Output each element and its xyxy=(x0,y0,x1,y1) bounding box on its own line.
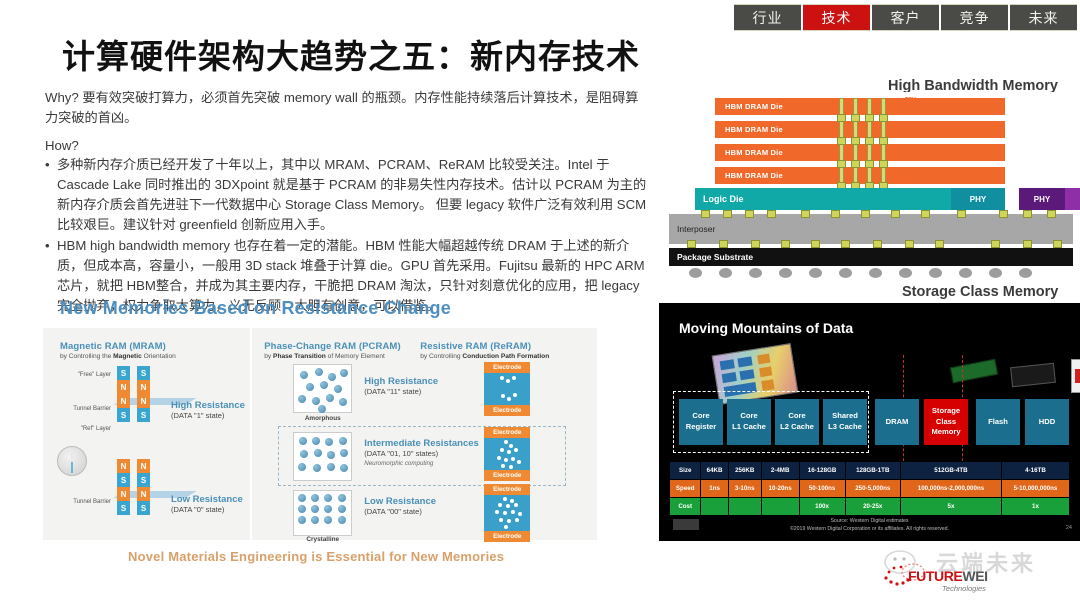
futurewei-tagline: Technologies xyxy=(942,584,986,593)
memory-comparison-table: Size 64KB 256KB 2-4MB 16-128GB 128GB-1TB… xyxy=(669,461,1070,516)
pole-s: S xyxy=(117,473,130,487)
pole-s: S xyxy=(117,501,130,515)
reram-cell-low: Electrode Electrode xyxy=(484,484,530,542)
pole-n: N xyxy=(137,487,150,501)
pcram-subtitle: by Phase Transition of Memory Element xyxy=(264,353,400,360)
tier-core-register: CoreRegister xyxy=(679,399,723,445)
tier-storage-class-memory: Storage Class Memory xyxy=(924,399,968,445)
mram-high-res-magnets: S N N S S N N S xyxy=(117,366,150,422)
pole-s: S xyxy=(137,473,150,487)
bullet-marker-icon: • xyxy=(45,155,57,235)
nav-tab-competition[interactable]: 竞争 xyxy=(941,4,1008,31)
section-heading: New Memories Based on Resistance Change xyxy=(60,298,451,319)
row-header: Size xyxy=(670,462,701,480)
magnet-bar: N S N S xyxy=(137,459,150,515)
copyright-text: ©2019 Western Digital Corporation or its… xyxy=(659,526,1080,534)
bullet-text: 多种新内存介质已经开发了十年以上，其中以 MRAM、PCRAM、ReRAM 比较… xyxy=(57,155,653,235)
pcram-low-resistance-label: Low Resistance (DATA "00" state) xyxy=(364,496,436,516)
list-item: • 多种新内存介质已经开发了十年以上，其中以 MRAM、PCRAM、ReRAM … xyxy=(45,155,653,235)
row-header: Cost xyxy=(670,498,701,516)
mram-high-resistance-label: High Resistance (DATA "1" state) xyxy=(171,400,245,420)
pole-s: S xyxy=(137,408,150,422)
amorphous-label: Amorphous xyxy=(293,415,352,422)
pole-n: N xyxy=(137,394,150,408)
tsv-label: TSV xyxy=(905,97,916,104)
memory-technology-figure: Magnetic RAM (MRAM) by Controlling the M… xyxy=(43,328,597,540)
electrode-label: Electrode xyxy=(484,484,530,495)
slide-title: 计算硬件架构大趋势之五：新内存技术 xyxy=(62,30,662,78)
top-navigation[interactable]: 行业 技术 客户 竞争 未来 xyxy=(734,4,1077,31)
tier-l3-cache: SharedL3 Cache xyxy=(823,399,867,445)
electrode-label: Electrode xyxy=(484,405,530,416)
mram-low-resistance-label: Low Resistance (DATA "0" state) xyxy=(171,494,243,514)
phy-left: PHY xyxy=(951,188,1005,210)
mram-panel: Magnetic RAM (MRAM) by Controlling the M… xyxy=(43,328,250,540)
bullet-list: • 多种新内存介质已经开发了十年以上，其中以 MRAM、PCRAM、ReRAM … xyxy=(45,155,653,318)
tier-l1-cache: CoreL1 Cache xyxy=(727,399,771,445)
scm-device-image xyxy=(1010,363,1056,387)
mram-subtitle: by Controlling the Magnetic Orientation xyxy=(60,353,176,360)
logic-die: Logic Die xyxy=(695,188,855,210)
page-number: 24 xyxy=(1066,525,1072,531)
compass-icon xyxy=(57,446,87,476)
nav-tab-industry[interactable]: 行业 xyxy=(734,4,801,31)
pole-n: N xyxy=(137,459,150,473)
pcram-title: Phase-Change RAM (PCRAM) xyxy=(264,341,400,352)
mram-low-res-magnets: N S N S N S N S xyxy=(117,459,150,515)
mram-tunnel-barrier-label: Tunnel Barrier xyxy=(55,406,111,412)
crystalline-label: Crystalline xyxy=(293,536,352,543)
bottom-caption: Novel Materials Engineering is Essential… xyxy=(128,549,504,564)
pole-n: N xyxy=(117,487,130,501)
scm-heading: Storage Class Memory xyxy=(902,284,1058,300)
crystalline-dot-box xyxy=(293,490,352,536)
hbm-dram-die-2: HBM DRAM Die xyxy=(715,121,1005,138)
phy-right: PHY xyxy=(1019,188,1065,210)
package-substrate: Package Substrate xyxy=(669,248,1073,266)
pcram-high-resistance-label: High Resistance (DATA "11" state) xyxy=(364,376,438,396)
microbump-label: Microbump xyxy=(905,104,935,111)
magnet-bar: S N N S xyxy=(137,366,150,422)
electrode-label: Electrode xyxy=(484,470,530,481)
mram-free-layer-label: "Free" Layer xyxy=(61,372,111,378)
nav-tab-technology[interactable]: 技术 xyxy=(803,4,870,31)
reram-cell-intermediate: Electrode Electrode xyxy=(484,427,530,481)
intermediate-dot-box xyxy=(293,432,352,481)
nav-tab-customer[interactable]: 客户 xyxy=(872,4,939,31)
source-text: Source: Western Digital estimates xyxy=(659,518,1080,526)
bullet-marker-icon: • xyxy=(45,236,57,316)
scm-panel-title: Moving Mountains of Data xyxy=(679,320,853,336)
footer-watermark: 云端未来 FUTUREWEI Technologies xyxy=(880,544,1080,608)
pcram-intermediate-resistance-label: Intermediate Resistances (DATA "01, 10" … xyxy=(364,438,479,467)
table-row-speed: Speed 1ns 3-10ns 10-20ns 50-100ns 250-5,… xyxy=(670,480,1070,498)
hbm-dram-die-1: HBM DRAM Die xyxy=(715,98,1005,115)
futurewei-logo: FUTUREWEI xyxy=(908,568,988,584)
soc-die: CPU/CPU/Soc Die xyxy=(1065,188,1080,210)
hbm-diagram: HBM DRAM Die HBM DRAM Die HBM DRAM Die H… xyxy=(661,92,1080,260)
mram-tunnel-barrier-label-2: Tunnel Barrier xyxy=(55,499,111,505)
tier-dram: DRAM xyxy=(875,399,919,445)
reram-cell-high: Electrode Electrode xyxy=(484,362,530,416)
pole-n: N xyxy=(117,394,130,408)
pcram-reram-panel: Phase-Change RAM (PCRAM) by Phase Transi… xyxy=(252,328,597,540)
tier-flash: Flash xyxy=(976,399,1020,445)
pole-n: N xyxy=(117,459,130,473)
row-header: Speed xyxy=(670,480,701,498)
why-paragraph: Why? 要有效突破打算力，必须首先突破 memory wall 的瓶颈。内存性… xyxy=(45,88,645,129)
dram-module-image xyxy=(950,359,998,383)
pole-s: S xyxy=(137,501,150,515)
pole-s: S xyxy=(137,366,150,380)
electrode-label: Electrode xyxy=(484,427,530,438)
tier-l2-cache: CoreL2 Cache xyxy=(775,399,819,445)
magnet-bar: N S N S xyxy=(117,459,130,515)
electrode-label: Electrode xyxy=(484,362,530,373)
electrode-label: Electrode xyxy=(484,531,530,542)
interposer: Interposer xyxy=(669,214,1073,244)
tier-hdd: HDD xyxy=(1025,399,1069,445)
pole-s: S xyxy=(117,366,130,380)
table-row-cost: Cost 100x 20-25x 5x 1x xyxy=(670,498,1070,516)
reram-subtitle: by Controlling Conduction Path Formation xyxy=(420,353,549,360)
source-note: Source: Western Digital estimates ©2019 … xyxy=(659,518,1080,534)
flash-drive-image xyxy=(1071,359,1080,393)
scm-panel: Moving Mountains of Data CoreRegister Co… xyxy=(659,303,1080,541)
mram-ref-layer-label: "Ref" Layer xyxy=(63,426,111,432)
table-row-size: Size 64KB 256KB 2-4MB 16-128GB 128GB-1TB… xyxy=(670,462,1070,480)
how-label: How? xyxy=(45,138,79,153)
pole-n: N xyxy=(117,380,130,394)
magnet-bar: S N N S xyxy=(117,366,130,422)
hbm-dram-die-3: HBM DRAM Die xyxy=(715,144,1005,161)
pole-n: N xyxy=(137,380,150,394)
pole-s: S xyxy=(117,408,130,422)
nav-tab-future[interactable]: 未来 xyxy=(1010,4,1077,31)
reram-title: Resistive RAM (ReRAM) xyxy=(420,341,549,352)
hbm-dram-die-4: HBM DRAM Die xyxy=(715,167,1005,184)
mram-title: Magnetic RAM (MRAM) xyxy=(60,341,176,352)
amorphous-dot-box xyxy=(293,364,352,413)
